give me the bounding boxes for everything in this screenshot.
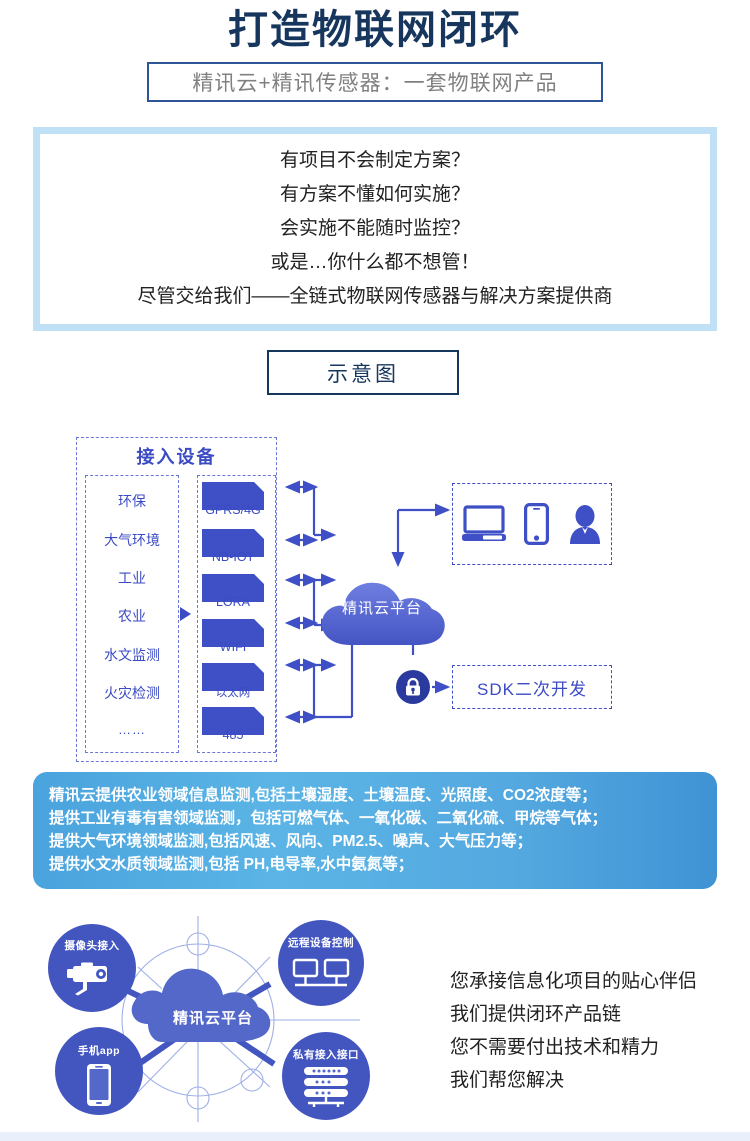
protocol-card: NB-IOT	[202, 529, 264, 569]
hub-node-camera: 摄像头接入	[48, 924, 136, 1012]
question-line: 有项目不会制定方案？	[280, 144, 470, 178]
industry-item: 火灾检测	[104, 683, 160, 703]
flow-arrow-icon	[180, 607, 191, 621]
industry-list: 环保 大气环境 工业 农业 水文监测 火灾检测 ……	[85, 475, 179, 753]
subtitle-box: 精讯云+精讯传感器：一套物联网产品	[147, 62, 603, 102]
protocol-label: NB-IOT	[202, 550, 264, 564]
protocol-card: 485	[202, 707, 264, 747]
capability-line: 提供大气环境领域监测,包括风速、风向、PM2.5、噪声、大气压力等；	[49, 830, 701, 853]
client-devices-box	[452, 483, 612, 565]
capability-line: 提供水文水质领域监测,包括 PH,电导率,水中氨氮等；	[49, 853, 701, 876]
protocol-label: WIFI	[202, 640, 264, 654]
protocol-label: GPRS/4G	[202, 503, 264, 517]
protocol-label: LORA	[202, 595, 264, 609]
protocol-card: GPRS/4G	[202, 482, 264, 522]
schematic-label-box: 示意图	[267, 350, 459, 395]
industry-item: 大气环境	[104, 530, 160, 550]
schematic-label: 示意图	[327, 358, 399, 388]
smartphone-icon	[524, 503, 549, 545]
industry-item: 农业	[118, 606, 146, 626]
hub-node-mobile-app: 手机app	[55, 1027, 143, 1115]
lock-icon	[404, 677, 422, 697]
capability-line: 精讯云提供农业领域信息监测,包括土壤湿度、土壤温度、光照度、CO2浓度等；	[49, 784, 701, 807]
protocol-card: 以太网	[202, 663, 264, 703]
protocol-label: 以太网	[202, 684, 264, 700]
closing-text: 您承接信息化项目的贴心伴侣 我们提供闭环产品链 您不需要付出技术和精力 我们帮您…	[450, 965, 740, 1097]
hub-node-label: 远程设备控制	[278, 935, 364, 950]
sdk-box: SDK二次开发	[452, 665, 612, 709]
smartphone-icon	[86, 1063, 112, 1107]
hub-node-label: 私有接入接口	[282, 1047, 370, 1062]
question-line: 会实施不能随时监控？	[280, 212, 470, 246]
industry-item: 环保	[118, 491, 146, 511]
dual-monitor-icon	[292, 958, 350, 992]
hub-node-label: 摄像头接入	[48, 938, 136, 953]
cloud-hub-diagram: 精讯云平台 摄像头接入 远程设备控制 手机	[30, 912, 390, 1132]
question-line: 有方案不懂如何实施？	[280, 178, 470, 212]
cctv-camera-icon	[65, 962, 119, 996]
hub-node-remote-control: 远程设备控制	[278, 920, 364, 1006]
industry-item: 水文监测	[104, 645, 160, 665]
question-line: 尽管交给我们——全链式物联网传感器与解决方案提供商	[137, 280, 612, 314]
sdk-label: SDK二次开发	[477, 675, 587, 700]
capabilities-band: 精讯云提供农业领域信息监测,包括土壤湿度、土壤温度、光照度、CO2浓度等； 提供…	[33, 772, 717, 889]
cloud-platform-label: 精讯云平台	[316, 597, 448, 618]
protocol-list: GPRS/4G NB-IOT LORA WIFI 以太网 485	[197, 475, 276, 753]
laptop-icon	[462, 505, 506, 543]
server-rack-icon	[300, 1066, 352, 1108]
architecture-diagram: 接入设备 环保 大气环境 工业 农业 水文监测 火灾检测 …… GPRS/4G …	[0, 425, 750, 765]
industry-item: 工业	[118, 568, 146, 588]
capability-line: 提供工业有毒有害领域监测，包括可燃气体、一氧化碳、二氧化硫、甲烷等气体；	[49, 807, 701, 830]
hub-center-label: 精讯云平台	[148, 1007, 278, 1028]
promo-page: 打造物联网闭环 精讯云+精讯传感器：一套物联网产品 有项目不会制定方案？ 有方案…	[0, 0, 750, 1141]
protocol-card: LORA	[202, 574, 264, 614]
closing-line: 我们帮您解决	[450, 1064, 740, 1097]
closing-line: 我们提供闭环产品链	[450, 998, 740, 1031]
protocol-label: 485	[202, 728, 264, 742]
user-icon	[568, 504, 602, 544]
hub-node-label: 手机app	[55, 1043, 143, 1058]
access-equipment-title: 接入设备	[76, 443, 277, 469]
subtitle-text: 精讯云+精讯传感器：一套物联网产品	[192, 67, 557, 97]
closing-line: 您不需要付出技术和精力	[450, 1031, 740, 1064]
hub-node-private-interface: 私有接入接口	[282, 1032, 370, 1120]
bottom-divider	[0, 1132, 750, 1141]
questions-box: 有项目不会制定方案？ 有方案不懂如何实施？ 会实施不能随时监控？ 或是…你什么都…	[33, 127, 717, 331]
industry-item-ellipsis: ……	[118, 722, 146, 737]
protocol-card: WIFI	[202, 619, 264, 659]
closing-line: 您承接信息化项目的贴心伴侣	[450, 965, 740, 998]
question-line: 或是…你什么都不想管！	[270, 246, 479, 280]
page-title: 打造物联网闭环	[0, 6, 750, 54]
lock-badge	[396, 670, 430, 704]
